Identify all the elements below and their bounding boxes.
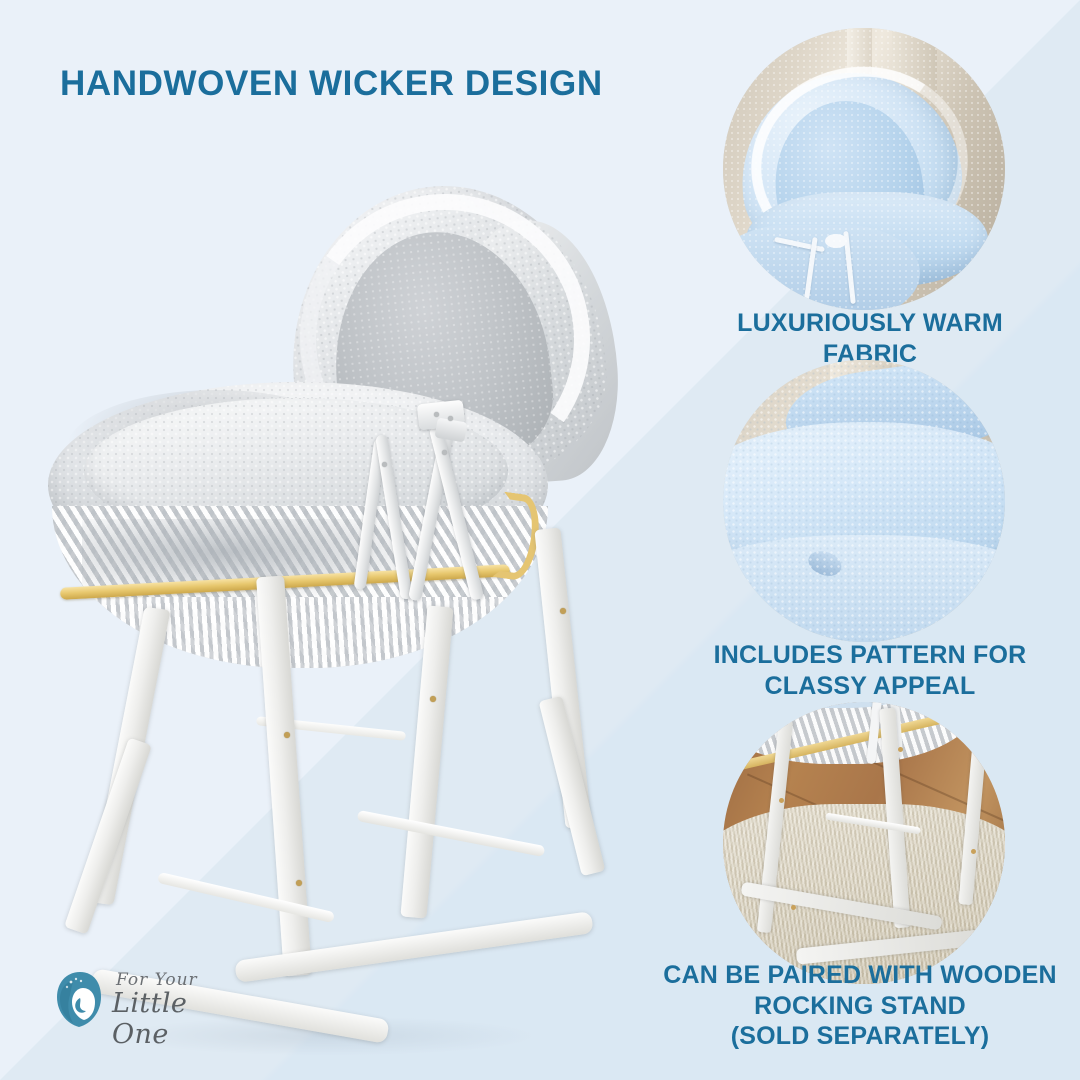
- page-title: HANDWOVEN WICKER DESIGN: [60, 64, 603, 104]
- strap-stud: [448, 416, 453, 421]
- stand-screw: [560, 608, 566, 614]
- feature-caption-2: INCLUDES PATTERN FOR CLASSY APPEAL: [650, 640, 1080, 701]
- wicker-horizontal-weave: [52, 597, 548, 668]
- feature-image-2: [723, 360, 1005, 642]
- stand-screw: [971, 849, 976, 854]
- stand-screw: [898, 747, 903, 752]
- waffle-texture-overlay: [723, 28, 1005, 310]
- stand-leg: [64, 738, 152, 935]
- caption-line: ROCKING STAND: [630, 991, 1080, 1022]
- stand-screw: [430, 696, 436, 702]
- strap-stud: [434, 412, 439, 417]
- caption-line: LUXURIOUSLY WARM: [660, 308, 1080, 339]
- feature-image-1: [723, 28, 1005, 310]
- feature-caption-3: CAN BE PAIRED WITH WOODEN ROCKING STAND …: [630, 960, 1080, 1052]
- strap-stud: [382, 462, 387, 467]
- stand-screw: [284, 732, 290, 738]
- hero-product-image: [38, 176, 638, 976]
- caption-line: (SOLD SEPARATELY): [630, 1021, 1080, 1052]
- strap-stud: [442, 450, 447, 455]
- logo-line-2: Little One: [112, 988, 230, 1050]
- feature-image-3: [723, 702, 1005, 984]
- waffle-texture-shadow: [723, 360, 1005, 642]
- mother-and-baby-icon: [50, 968, 108, 1030]
- logo-line-1: For Your: [116, 970, 198, 990]
- caption-line: CAN BE PAIRED WITH WOODEN: [630, 960, 1080, 991]
- stand-screw: [296, 880, 302, 886]
- infographic-canvas: HANDWOVEN WICKER DESIGN: [0, 0, 1080, 1080]
- stand-screw: [791, 905, 796, 910]
- stand-cross-rail: [357, 810, 546, 857]
- stand-cross-rail: [157, 872, 335, 923]
- caption-line: CLASSY APPEAL: [650, 671, 1080, 702]
- caption-line: INCLUDES PATTERN FOR: [650, 640, 1080, 671]
- brand-logo: For Your Little One: [50, 968, 230, 1038]
